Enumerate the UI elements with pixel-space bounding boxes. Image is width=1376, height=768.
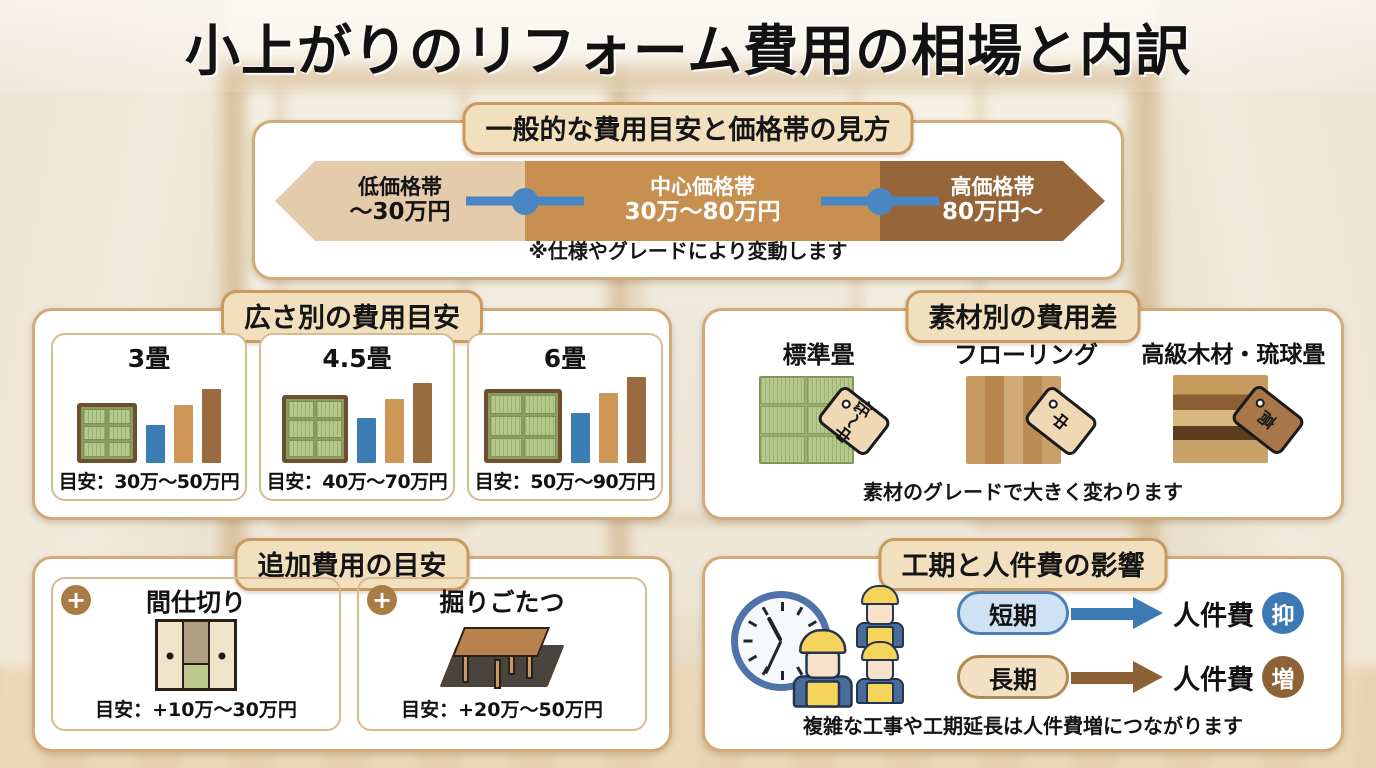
additional-price: 目安：+20万～50万円 bbox=[401, 695, 603, 722]
clock-hour-hand bbox=[767, 616, 783, 642]
worker-icon-foreground bbox=[789, 629, 857, 707]
bar-min bbox=[571, 413, 590, 463]
section-labor-cost: 工期と人件費の影響 bbox=[702, 556, 1344, 752]
labor-cost-label: 人件費 bbox=[1173, 658, 1254, 697]
price-band-high-amount: 80万円～ bbox=[942, 200, 1043, 226]
material-standard-tatami: 標準畳 低～中 bbox=[721, 335, 917, 464]
helmet-icon bbox=[799, 629, 847, 654]
labor-result-long: 人件費 増 bbox=[1173, 656, 1304, 698]
section-heading-labor: 工期と人件費の影響 bbox=[879, 538, 1168, 591]
worker-vest bbox=[866, 682, 894, 704]
bar-chart-4-5jo bbox=[357, 375, 432, 463]
page-title: 小上がりのリフォーム費用の相場と内訳 bbox=[185, 6, 1191, 86]
bar-max bbox=[202, 389, 221, 463]
tatami-icon bbox=[77, 403, 137, 463]
arrow-right-icon bbox=[1071, 669, 1163, 686]
additional-card-row: + 間仕切り 目安：+10万～30万円 + 掘りごたつ bbox=[51, 577, 647, 731]
size-visual bbox=[53, 375, 245, 465]
clock-tick bbox=[748, 620, 757, 627]
labor-note: 複雑な工事や工期延長は人件費増につながります bbox=[705, 710, 1341, 739]
labor-cost-label: 人件費 bbox=[1173, 594, 1254, 633]
door-panel-bottom bbox=[184, 663, 208, 688]
connector-knob-icon bbox=[867, 188, 894, 215]
price-note: ※仕様やグレードにより変動します bbox=[255, 235, 1121, 264]
labor-result-short: 人件費 抑 bbox=[1173, 592, 1304, 634]
bar-min bbox=[146, 425, 165, 463]
material-flooring: フローリング 中 bbox=[928, 335, 1124, 464]
term-pill-long: 長期 bbox=[957, 655, 1069, 699]
connector-knob-icon bbox=[512, 188, 539, 215]
table-leg bbox=[462, 653, 469, 683]
door-handle-icon bbox=[167, 653, 174, 660]
bar-min bbox=[357, 418, 376, 463]
section-size-cost: 広さ別の費用目安 3畳 目安：30万～50万円 4.5畳 bbox=[32, 308, 672, 520]
material-label: 高級木材・琉球畳 bbox=[1141, 335, 1325, 369]
term-pill-short: 短期 bbox=[957, 591, 1069, 635]
bar-chart-3jo bbox=[146, 375, 221, 463]
tag-label: 中 bbox=[1046, 407, 1076, 436]
size-card-3jo: 3畳 目安：30万～50万円 bbox=[51, 333, 247, 501]
arrow-shaft bbox=[1071, 608, 1133, 620]
arrow-shaft bbox=[1071, 672, 1133, 684]
clock-minute-hand bbox=[764, 640, 782, 674]
material-swatch-wrap: 中 bbox=[966, 376, 1086, 464]
effect-badge-increased: 増 bbox=[1262, 656, 1304, 698]
bar-mid bbox=[174, 405, 193, 463]
labor-icon-group bbox=[731, 585, 911, 700]
additional-visual bbox=[155, 619, 237, 691]
price-range-arrow: 低価格帯 ～30万円 中心価格帯 30万～80万円 高価格帯 80万円～ bbox=[275, 161, 1105, 241]
tatami-icon bbox=[282, 395, 348, 463]
door-panel-left bbox=[158, 622, 184, 688]
additional-card-partition: + 間仕切り 目安：+10万～30万円 bbox=[51, 577, 341, 731]
section-heading-price: 一般的な費用目安と価格帯の見方 bbox=[463, 102, 914, 155]
clock-tick bbox=[781, 671, 784, 680]
effect-badge-suppressed: 抑 bbox=[1262, 592, 1304, 634]
worker-icon bbox=[853, 585, 907, 647]
sliding-door-icon bbox=[155, 619, 237, 691]
price-band-high-label: 高価格帯 bbox=[951, 176, 1035, 200]
arrow-right-icon bbox=[1071, 605, 1163, 622]
additional-label: 間仕切り bbox=[146, 583, 246, 619]
material-swatch-wrap: 高 bbox=[1173, 375, 1293, 463]
bar-mid bbox=[599, 393, 618, 463]
kotatsu-table-icon bbox=[442, 619, 562, 691]
size-label: 3畳 bbox=[128, 339, 170, 375]
price-band-low-label: 低価格帯 bbox=[358, 176, 442, 200]
plus-icon: + bbox=[367, 585, 397, 615]
bar-max bbox=[413, 383, 432, 463]
tag-label: 高 bbox=[1253, 406, 1283, 435]
plus-icon: + bbox=[61, 585, 91, 615]
door-panel-right bbox=[210, 622, 234, 688]
clock-tick bbox=[762, 606, 769, 615]
size-card-4-5jo: 4.5畳 目安：40万～70万円 bbox=[259, 333, 455, 501]
bar-chart-6jo bbox=[571, 375, 646, 463]
price-band-mid-amount: 30万～80万円 bbox=[624, 200, 780, 226]
size-label: 4.5畳 bbox=[322, 339, 391, 375]
size-label: 6畳 bbox=[544, 339, 586, 375]
additional-price: 目安：+10万～30万円 bbox=[95, 695, 297, 722]
section-additional-cost: 追加費用の目安 + 間仕切り 目安：+10万～30万円 + 掘りごたつ bbox=[32, 556, 672, 752]
additional-visual bbox=[442, 619, 562, 691]
price-band-low-amount: ～30万円 bbox=[349, 200, 450, 226]
section-material-cost: 素材別の費用差 標準畳 低～中 フローリング 中 高 bbox=[702, 308, 1344, 520]
table-leg bbox=[494, 659, 501, 689]
clock-tick bbox=[744, 640, 753, 643]
worker-icon bbox=[853, 641, 907, 703]
material-note: 素材のグレードで大きく変わります bbox=[705, 476, 1341, 505]
size-price: 目安：50万～90万円 bbox=[475, 467, 655, 494]
table-top bbox=[452, 627, 550, 657]
size-card-6jo: 6畳 目安：50万～90万円 bbox=[467, 333, 663, 501]
clock-tick bbox=[748, 655, 757, 662]
section-price-range: 一般的な費用目安と価格帯の見方 低価格帯 ～30万円 中心価格帯 30万～80万… bbox=[252, 120, 1124, 280]
band-connector-mid-high bbox=[821, 197, 939, 206]
title-band: 小上がりのリフォーム費用の相場と内訳 bbox=[0, 0, 1376, 92]
labor-flow-long-term: 長期 人件費 増 bbox=[957, 655, 1304, 699]
door-panel-center bbox=[184, 622, 210, 688]
helmet-icon bbox=[861, 641, 899, 661]
material-label: 標準畳 bbox=[783, 335, 855, 370]
tatami-icon bbox=[484, 389, 562, 463]
additional-label: 掘りごたつ bbox=[439, 583, 564, 619]
door-handle-icon bbox=[219, 653, 226, 660]
bar-mid bbox=[385, 399, 404, 463]
tag-label: 低～中 bbox=[828, 393, 879, 449]
clock-tick bbox=[808, 620, 817, 627]
bar-max bbox=[627, 377, 646, 463]
clock-tick bbox=[796, 606, 803, 615]
material-swatch-wrap: 低～中 bbox=[759, 376, 879, 464]
price-band-mid-label: 中心価格帯 bbox=[650, 176, 755, 200]
clock-tick bbox=[781, 602, 784, 611]
worker-vest bbox=[805, 680, 840, 708]
band-connector-low-mid bbox=[466, 197, 584, 206]
size-visual bbox=[261, 375, 453, 465]
size-card-row: 3畳 目安：30万～50万円 4.5畳 目安： bbox=[51, 333, 663, 501]
size-visual bbox=[469, 375, 661, 465]
helmet-icon bbox=[861, 585, 899, 605]
material-label: フローリング bbox=[954, 335, 1098, 370]
material-premium-wood: 高級木材・琉球畳 高 bbox=[1135, 335, 1331, 464]
additional-card-kotatsu: + 掘りごたつ 目安：+20万～50万円 bbox=[357, 577, 647, 731]
size-price: 目安：40万～70万円 bbox=[267, 467, 447, 494]
labor-flow-short-term: 短期 人件費 抑 bbox=[957, 591, 1304, 635]
size-price: 目安：30万～50万円 bbox=[59, 467, 239, 494]
arrow-head bbox=[1133, 661, 1163, 693]
arrow-head bbox=[1133, 597, 1163, 629]
material-row: 標準畳 低～中 フローリング 中 高級木材・琉球畳 bbox=[715, 335, 1337, 464]
